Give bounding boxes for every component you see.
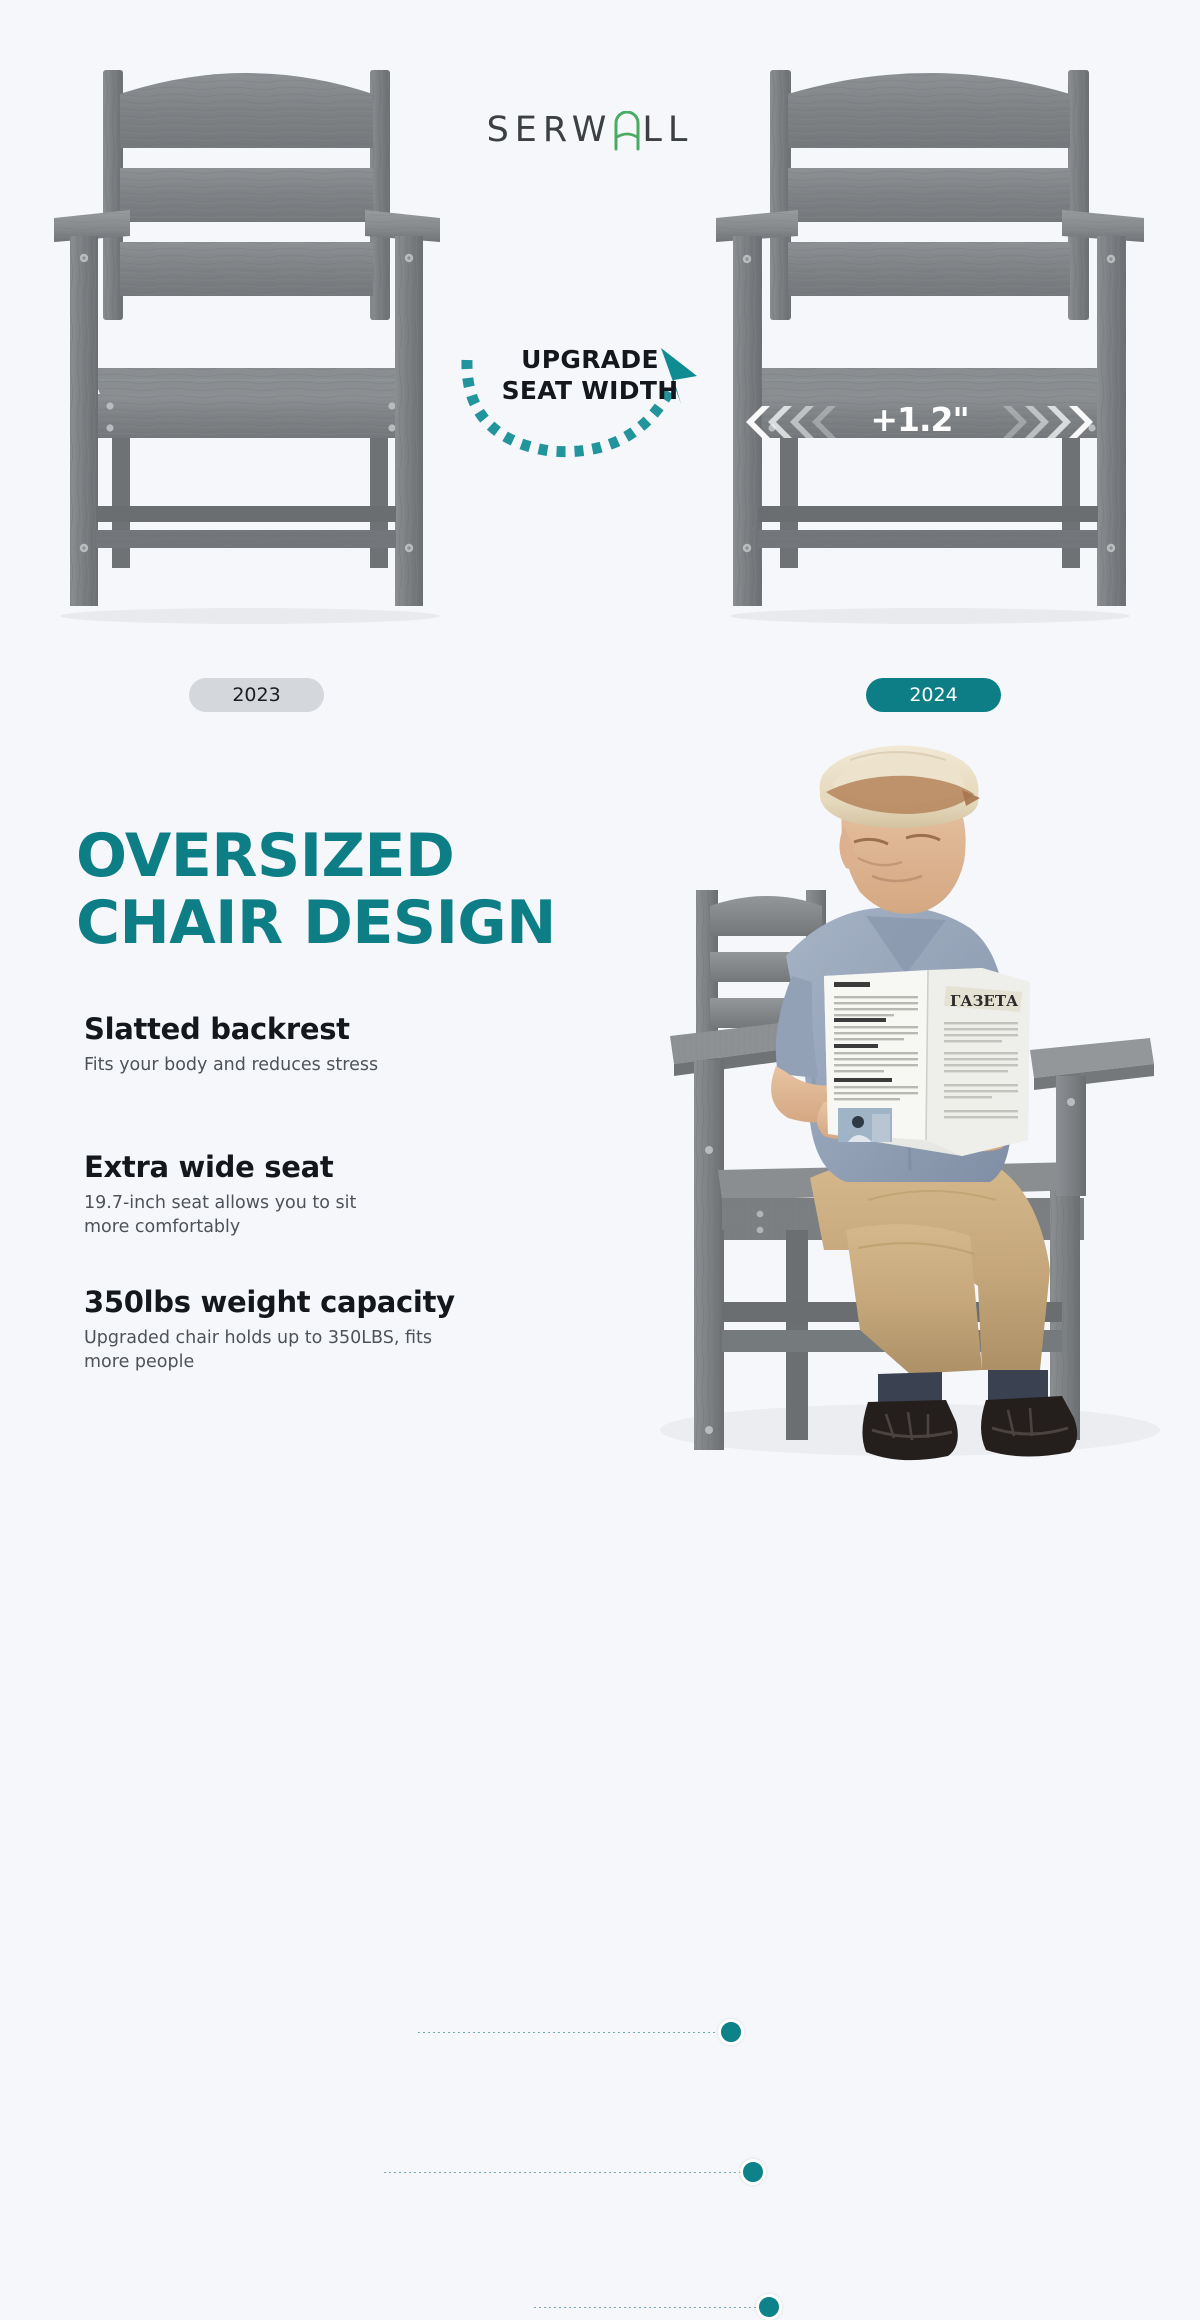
infographic-page: +1.2" SERW LL UPGRADE SEAT WIDTH [0,0,1200,1500]
shoe-left [862,1400,957,1460]
logo-text-before: SERW [487,110,613,150]
svg-text:ГАЗЕТА: ГАЗЕТА [950,992,1019,1010]
hotspot-dot-seat [740,2159,766,2185]
badge-year-2023: 2023 [189,678,324,712]
callout-line-1: UPGRADE [490,344,690,375]
comparison-section: +1.2" SERW LL UPGRADE SEAT WIDTH [0,0,1200,730]
hotspot-dot-capacity [756,2294,782,2320]
headline-line-1: OVERSIZED [76,823,656,890]
upgrade-callout: UPGRADE SEAT WIDTH [455,330,720,465]
connector-line-capacity [534,2307,762,2308]
feature-desc: Fits your body and reduces stress [84,1053,554,1077]
feature-desc-line-2: more comfortably [84,1215,554,1239]
feature-item-slatted-backrest: Slatted backrest Fits your body and redu… [84,1012,554,1077]
feature-title: Slatted backrest [84,1012,554,1046]
badge-year-2024: 2024 [866,678,1001,712]
seat-width-measure-overlay: +1.2" [722,398,1117,446]
feature-desc-line-2: more people [84,1350,554,1374]
lifestyle-photo: ГАЗЕТА [610,730,1200,1500]
chair-a-letter-icon [612,111,642,149]
feature-title: Extra wide seat [84,1150,554,1184]
feature-desc-line-1: 19.7-inch seat allows you to sit [84,1191,554,1215]
seat-width-measure-label: +1.2" [722,400,1117,439]
chair-2023-image [40,50,460,650]
feature-item-extra-wide-seat: Extra wide seat 19.7-inch seat allows yo… [84,1150,554,1239]
page-title: OVERSIZED CHAIR DESIGN [76,823,656,957]
features-section: OVERSIZED CHAIR DESIGN Slatted backrest … [0,730,1200,1500]
connector-line-backrest [418,2032,734,2033]
newspaper: ГАЗЕТА [824,968,1030,1156]
feature-desc: Upgraded chair holds up to 350LBS, fits … [84,1326,554,1374]
connector-line-seat [384,2172,746,2173]
brand-logo-text: SERW LL [487,110,694,150]
brand-logo: SERW LL [470,100,710,160]
feature-title: 350lbs weight capacity [84,1285,554,1319]
feature-item-weight-capacity: 350lbs weight capacity Upgraded chair ho… [84,1285,554,1374]
hotspot-dot-backrest [718,2019,744,2045]
logo-text-after: LL [642,110,693,150]
feature-desc-line-1: Upgraded chair holds up to 350LBS, fits [84,1326,554,1350]
shoe-right [981,1396,1077,1457]
callout-line-2: SEAT WIDTH [490,375,690,406]
feature-desc: 19.7-inch seat allows you to sit more co… [84,1191,554,1239]
fedora-hat [820,745,980,828]
headline-line-2: CHAIR DESIGN [76,890,656,957]
upgrade-callout-text: UPGRADE SEAT WIDTH [490,344,690,406]
chair-2024-image [700,50,1160,650]
